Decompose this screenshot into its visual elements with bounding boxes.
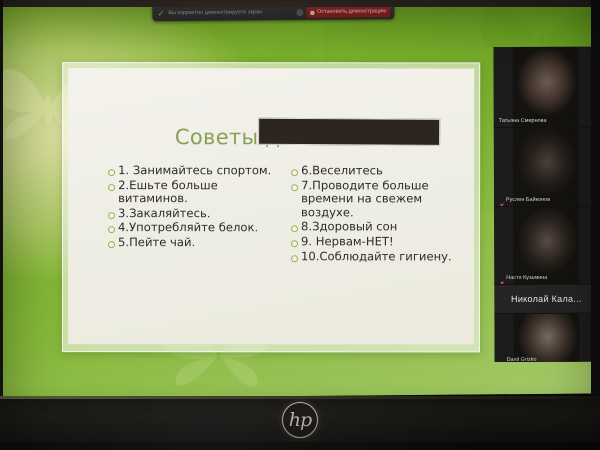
list-item-label: 10.Соблюдайте гигиену. — [301, 250, 456, 264]
circle-outline-bullet-icon — [108, 184, 115, 191]
stop-square-icon — [311, 10, 315, 14]
top-bezel — [0, 0, 600, 7]
participant-video — [513, 207, 579, 284]
stop-share-button[interactable]: Остановить демонстрацию — [307, 6, 391, 18]
list-item: 5.Пейте чай. — [108, 236, 273, 250]
list-item-label: 7.Проводите больше времени на свежем воз… — [301, 179, 456, 220]
stop-share-label: Остановить демонстрацию — [317, 8, 386, 16]
presentation-slide: Советы для ЗОЖ 1. Занимайтесь спортом.2.… — [62, 62, 480, 352]
list-item: 3.Закаляйтесь. — [108, 207, 273, 221]
list-item: 10.Соблюдайте гигиену. — [291, 250, 456, 264]
left-bezel — [0, 0, 3, 400]
circle-outline-bullet-icon — [291, 255, 298, 262]
participant-video — [513, 314, 579, 362]
participant-name: Татьяна Смирнова — [499, 118, 547, 125]
circle-outline-bullet-icon — [291, 240, 298, 247]
bezel-sheen — [0, 396, 600, 399]
hp-logo-icon: hp — [282, 402, 318, 438]
circle-outline-bullet-icon — [108, 212, 115, 219]
hp-logo-text: hp — [289, 411, 311, 430]
participant-tile[interactable]: Николай Кала... — [494, 285, 598, 314]
slide-top-dark-rectangle — [258, 118, 440, 146]
sharing-check-icon: ✓ — [156, 9, 165, 18]
list-item: 4.Употребляйте белок. — [108, 221, 273, 235]
circle-outline-bullet-icon — [291, 169, 298, 176]
muted-microphone-icon — [500, 357, 505, 362]
list-item-label: 5.Пейте чай. — [118, 236, 273, 250]
participant-video — [512, 47, 578, 127]
pause-icon[interactable] — [297, 9, 304, 16]
list-item: 7.Проводите больше времени на свежем воз… — [291, 179, 456, 220]
circle-outline-bullet-icon — [108, 226, 115, 233]
muted-microphone-icon — [499, 275, 504, 282]
list-item-label: 1. Занимайтесь спортом. — [118, 164, 273, 178]
participant-name: Руслен Байконов — [506, 197, 550, 204]
participant-name: Николай Кала... — [511, 294, 582, 304]
participant-tile[interactable]: Danil Grizko — [494, 314, 598, 362]
participant-name: Настя Кузьмина — [506, 275, 547, 282]
circle-outline-bullet-icon — [291, 184, 298, 191]
sharing-status-text: Вы корректно демонстрируете экран — [168, 9, 296, 17]
participant-video-strip[interactable]: Татьяна СмирноваРуслен БайконовНастя Куз… — [493, 47, 598, 362]
participant-tile[interactable]: Настя Кузьмина — [494, 207, 598, 285]
slide-body: 1. Занимайтесь спортом.2.Ешьте больше ви… — [108, 164, 460, 264]
list-item: 8.Здоровый сон — [291, 221, 456, 235]
list-item: 2.Ешьте больше витаминов. — [108, 179, 273, 206]
list-item-label: 2.Ешьте больше витаминов. — [118, 179, 273, 206]
list-item: 9. Нервам-НЕТ! — [291, 235, 456, 249]
circle-outline-bullet-icon — [108, 169, 115, 176]
list-item-label: 6.Веселитесь — [301, 164, 456, 178]
list-item-label: 3.Закаляйтесь. — [118, 207, 273, 221]
list-item-label: 8.Здоровый сон — [301, 221, 456, 235]
circle-outline-bullet-icon — [291, 226, 298, 233]
bullet-column-right: 6.Веселитесь7.Проводите больше времени н… — [291, 164, 456, 264]
participant-tile[interactable]: Татьяна Смирнова — [493, 47, 597, 128]
desk-surface — [0, 442, 600, 450]
screen-area: ✓ Вы корректно демонстрируете экран Оста… — [0, 1, 600, 398]
list-item-label: 4.Употребляйте белок. — [118, 221, 273, 235]
bullet-column-left: 1. Занимайтесь спортом.2.Ешьте больше ви… — [108, 164, 273, 264]
participant-name: Danil Grizko — [507, 357, 537, 362]
list-item: 1. Занимайтесь спортом. — [108, 164, 273, 178]
muted-microphone-icon — [499, 197, 504, 204]
participant-video — [513, 128, 579, 206]
participant-tile[interactable]: Руслен Байконов — [494, 128, 598, 207]
circle-outline-bullet-icon — [108, 241, 115, 248]
list-item: 6.Веселитесь — [291, 164, 456, 178]
slide-canvas: Советы для ЗОЖ 1. Занимайтесь спортом.2.… — [68, 68, 474, 344]
right-bezel — [591, 0, 600, 400]
list-item-label: 9. Нервам-НЕТ! — [301, 235, 456, 249]
laptop-screen-photo: ✓ Вы корректно демонстрируете экран Оста… — [0, 0, 600, 450]
